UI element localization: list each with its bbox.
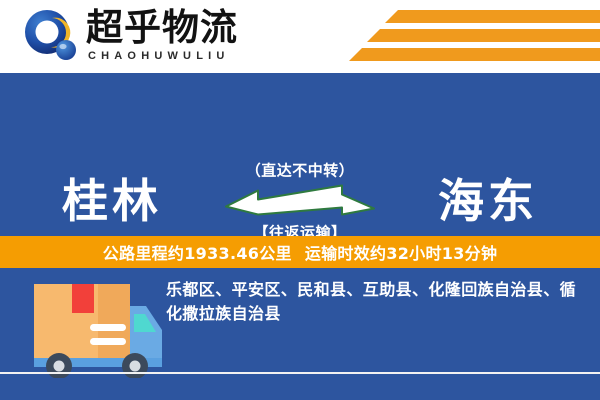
chaohu-circle-q-logo-icon xyxy=(22,8,80,66)
route-info-bar: 公路里程约1933.46公里运输时效约32小时13分钟 xyxy=(0,236,600,268)
brand-logo-group: 超乎物流 CHAOHUWULIU xyxy=(22,6,282,68)
bottom-divider xyxy=(0,372,600,374)
route-arrow-group: （直达不中转） 【往返运输】 xyxy=(200,160,400,243)
destination-area-list: 乐都区、平安区、民和县、互助县、化隆回族自治县、循化撒拉族自治县 xyxy=(166,278,584,326)
origin-city: 桂林 xyxy=(62,178,162,224)
info-bar-content: 公路里程约1933.46公里运输时效约32小时13分钟 xyxy=(103,240,498,264)
destination-city: 海东 xyxy=(438,178,538,224)
brand-name-cn: 超乎物流 xyxy=(86,7,238,49)
double-headed-arrow-icon xyxy=(224,184,376,218)
stripe-1 xyxy=(385,10,600,23)
brand-name-en: CHAOHUWULIU xyxy=(88,50,230,62)
distance-text: 公路里程约1933.46公里 xyxy=(103,244,292,263)
stripe-3 xyxy=(349,48,600,61)
banner-header: 超乎物流 CHAOHUWULIU xyxy=(0,0,600,73)
header-stripe-decoration xyxy=(330,8,600,68)
direct-service-label: （直达不中转） xyxy=(200,160,400,181)
route-panel: 桂林 （直达不中转） 【往返运输】 海东 xyxy=(0,73,600,236)
duration-text: 运输时效约32小时13分钟 xyxy=(305,244,497,263)
stripe-2 xyxy=(367,29,600,42)
logistics-route-banner: 超乎物流 CHAOHUWULIU 桂林 （直达不中转） 【往返运输】 海东 公路… xyxy=(0,0,600,400)
delivery-truck-icon xyxy=(28,278,166,378)
